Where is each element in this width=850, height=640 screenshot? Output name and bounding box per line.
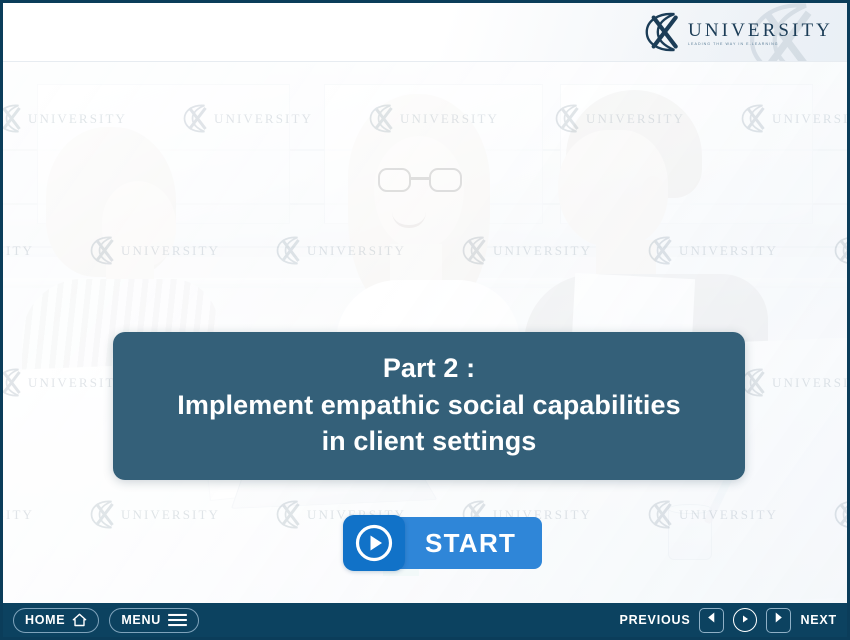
previous-label[interactable]: PREVIOUS — [619, 613, 690, 627]
nav-left-group: HOME MENU — [13, 608, 199, 633]
title-line-3: in client settings — [133, 423, 725, 460]
home-button[interactable]: HOME — [13, 608, 99, 633]
university-logo: UNIVERSITY LEADING THE WAY IN E-LEARNING — [643, 11, 833, 53]
start-button[interactable]: START — [343, 515, 542, 571]
play-circle-icon — [740, 611, 750, 629]
title-line-2: Implement empathic social capabilities — [133, 387, 725, 424]
title-banner: Part 2 : Implement empathic social capab… — [113, 332, 745, 480]
slide-stage: UNIVERSITYUNIVERSITYUNIVERSITYUNIVERSITY… — [3, 62, 847, 603]
previous-button[interactable] — [699, 608, 724, 633]
logo-tagline: LEADING THE WAY IN E-LEARNING — [688, 43, 833, 47]
arrow-right-icon — [772, 611, 785, 629]
play-pause-button[interactable] — [733, 608, 757, 632]
start-button-label[interactable]: START — [393, 517, 542, 569]
hamburger-menu-icon — [168, 613, 187, 627]
university-x-monogram-icon — [643, 12, 685, 52]
menu-button-label: MENU — [121, 613, 161, 627]
home-button-label: HOME — [25, 613, 65, 627]
title-line-1: Part 2 : — [133, 350, 725, 387]
home-icon — [72, 613, 87, 627]
glasses-icon — [376, 168, 464, 192]
menu-button[interactable]: MENU — [109, 608, 199, 633]
bottom-navigation-bar: HOME MENU PREVIOUS — [3, 603, 847, 637]
nav-right-group: PREVIOUS — [619, 608, 837, 633]
slide-header: UNIVERSITY LEADING THE WAY IN E-LEARNING — [3, 3, 847, 62]
next-label[interactable]: NEXT — [800, 613, 837, 627]
play-circle-icon[interactable] — [343, 515, 405, 571]
logo-wordmark: UNIVERSITY LEADING THE WAY IN E-LEARNING — [688, 18, 833, 47]
arrow-left-icon — [705, 611, 718, 629]
logo-name: UNIVERSITY — [688, 21, 833, 40]
course-slide: UNIVERSITY LEADING THE WAY IN E-LEARNING — [0, 0, 850, 640]
next-button[interactable] — [766, 608, 791, 633]
